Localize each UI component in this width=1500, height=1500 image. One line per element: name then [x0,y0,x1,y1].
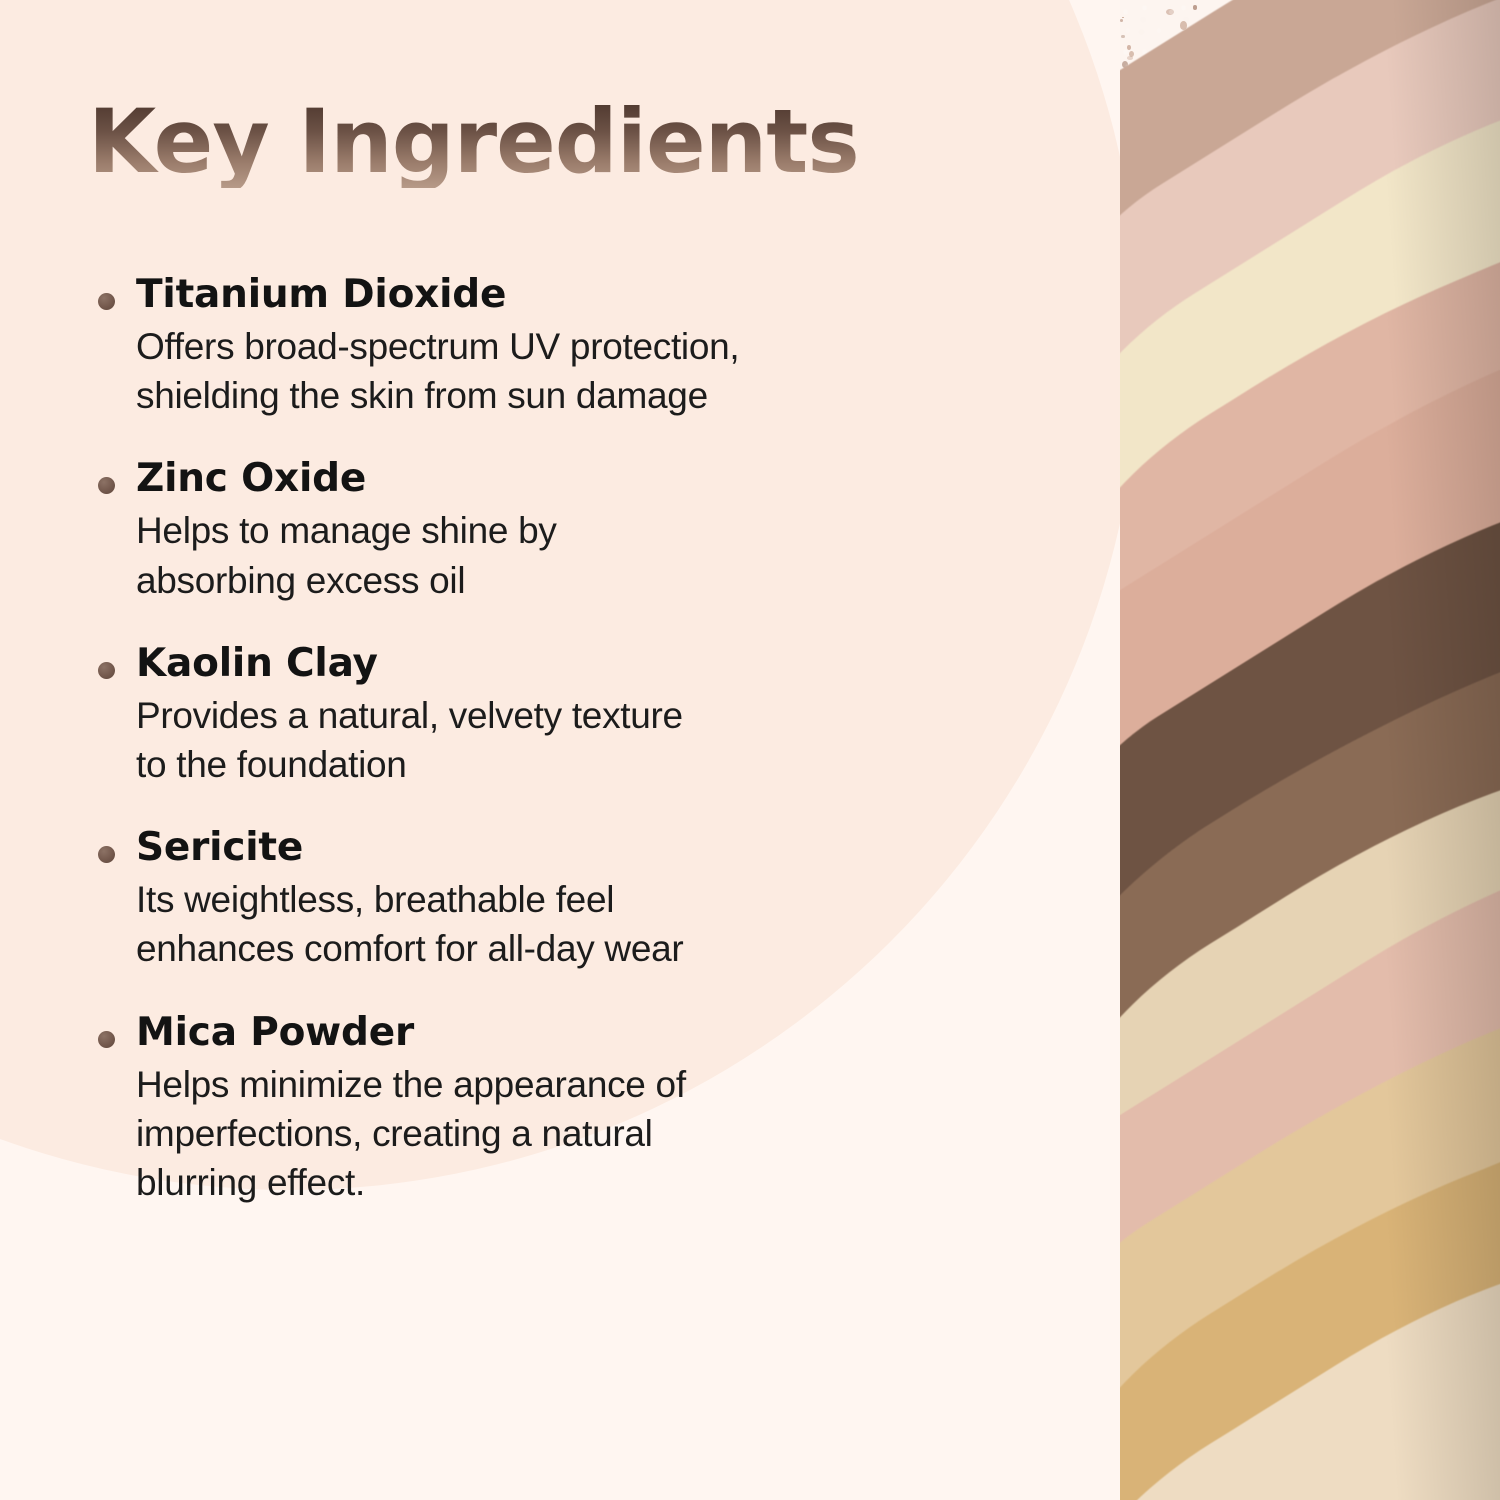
page-title-block: Key Ingredients [88,96,874,180]
ingredient-description: Its weightless, breathable feel enhances… [136,875,972,973]
page-title: Key Ingredients [88,96,874,188]
ingredient-item: Zinc OxideHelps to manage shine by absor… [92,456,972,604]
ingredient-description: Provides a natural, velvety texture to t… [136,691,972,789]
ingredient-name: Zinc Oxide [136,456,972,502]
ingredient-name: Titanium Dioxide [136,272,972,318]
bullet-icon [98,846,115,863]
powder-swatch-image [1120,0,1500,1500]
ingredient-item: SericiteIts weightless, breathable feel … [92,825,972,973]
ingredient-item: Kaolin ClayProvides a natural, velvety t… [92,641,972,789]
bullet-icon [98,477,115,494]
ingredient-description: Offers broad-spectrum UV protection, shi… [136,322,972,420]
ingredient-name: Sericite [136,825,972,871]
ingredient-name: Mica Powder [136,1010,972,1056]
bullet-icon [98,293,115,310]
ingredient-description: Helps to manage shine by absorbing exces… [136,506,972,604]
ingredient-description: Helps minimize the appearance of imperfe… [136,1060,972,1208]
bullet-icon [98,1031,115,1048]
ingredient-item: Titanium DioxideOffers broad-spectrum UV… [92,272,972,420]
ingredient-name: Kaolin Clay [136,641,972,687]
ingredient-list: Titanium DioxideOffers broad-spectrum UV… [92,272,972,1207]
bullet-icon [98,662,115,679]
ingredient-item: Mica PowderHelps minimize the appearance… [92,1010,972,1208]
key-ingredients-graphic: Key Ingredients Titanium DioxideOffers b… [0,0,1500,1500]
